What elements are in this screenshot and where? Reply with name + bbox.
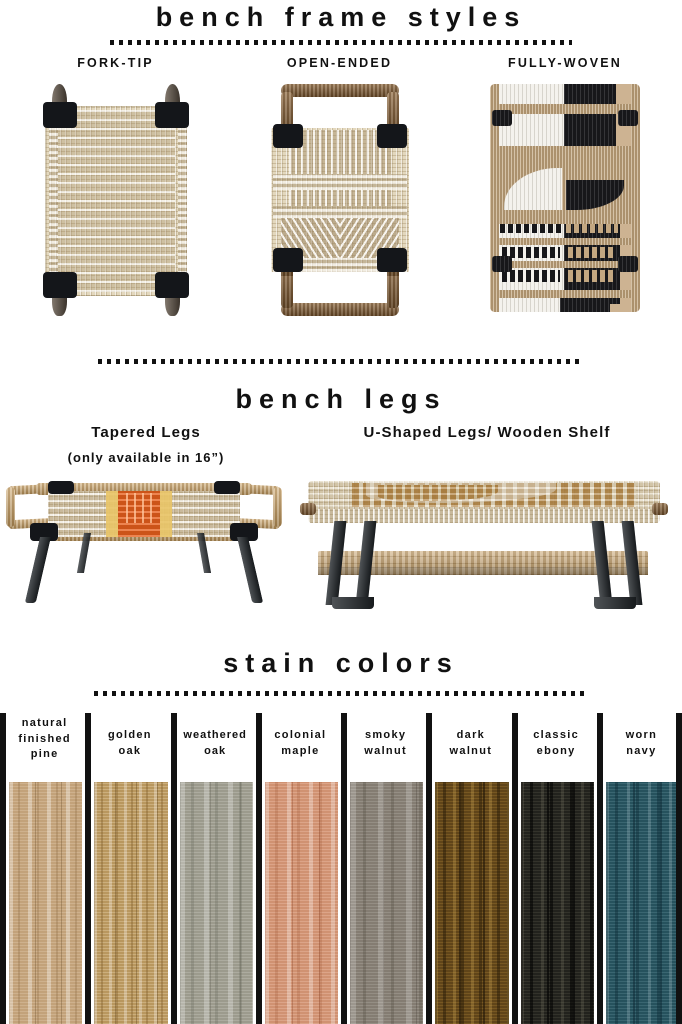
leg-style-label-u-shaped: U-Shaped Legs/ Wooden Shelf bbox=[292, 424, 682, 441]
frame-style-fork-tip[interactable]: FORK-TIP bbox=[8, 56, 223, 316]
stain-swatch-worn-navy[interactable]: worn navy bbox=[597, 706, 682, 1024]
stain-chip-natural-finished-pine bbox=[9, 782, 82, 1024]
product-options-infographic: bench frame styles FORK-TIP bbox=[0, 0, 682, 1024]
section-title-frame-styles: bench frame styles bbox=[0, 4, 682, 31]
stain-label-natural-finished-pine: natural finished pine bbox=[6, 716, 83, 763]
stain-label-dark-walnut: dark walnut bbox=[432, 728, 509, 759]
leg-style-u-shaped[interactable]: U-Shaped Legs/ Wooden Shelf bbox=[292, 424, 682, 617]
stain-label-classic-ebony: classic ebony bbox=[518, 728, 595, 759]
section-title-bench-legs: bench legs bbox=[0, 386, 682, 413]
u-shaped-bench-illustration bbox=[292, 467, 676, 617]
stain-swatch-weathered-oak[interactable]: weathered oak bbox=[171, 706, 256, 1024]
leg-style-tapered[interactable]: Tapered Legs (only available in 16”) bbox=[0, 424, 292, 605]
stain-swatch-colonial-maple[interactable]: colonial maple bbox=[256, 706, 341, 1024]
section-bench-legs: bench legs bbox=[0, 350, 682, 413]
stain-label-weathered-oak: weathered oak bbox=[177, 728, 254, 759]
swatch-separator bbox=[341, 713, 347, 1024]
stain-chip-classic-ebony bbox=[521, 782, 594, 1024]
frame-style-label-fully-woven: FULLY-WOVEN bbox=[456, 56, 674, 70]
stain-chip-weathered-oak bbox=[180, 782, 253, 1024]
tapered-bench-illustration bbox=[0, 475, 288, 605]
stain-swatch-smoky-walnut[interactable]: smoky walnut bbox=[341, 706, 426, 1024]
divider-stain-colors bbox=[94, 691, 588, 696]
section-bench-frame-styles: bench frame styles bbox=[0, 4, 682, 45]
swatch-separator bbox=[85, 713, 91, 1024]
stain-swatch-golden-oak[interactable]: golden oak bbox=[85, 706, 170, 1024]
stain-chip-golden-oak bbox=[94, 782, 167, 1024]
section-stain-colors: stain colors bbox=[0, 650, 682, 696]
swatch-separator bbox=[597, 713, 603, 1024]
swatch-separator bbox=[426, 713, 432, 1024]
open-ended-illustration bbox=[255, 84, 425, 316]
swatch-separator bbox=[0, 713, 6, 1024]
stain-swatch-classic-ebony[interactable]: classic ebony bbox=[512, 706, 597, 1024]
swatch-separator-end bbox=[676, 713, 682, 1024]
frame-styles-row: FORK-TIP OPEN-ENDED bbox=[0, 56, 682, 336]
frame-style-open-ended[interactable]: OPEN-ENDED bbox=[232, 56, 447, 316]
section-title-stain-colors: stain colors bbox=[0, 650, 682, 677]
divider-bench-legs bbox=[98, 359, 584, 364]
stain-chip-smoky-walnut bbox=[350, 782, 423, 1024]
swatch-separator bbox=[512, 713, 518, 1024]
divider-frame-styles bbox=[110, 40, 572, 45]
stain-swatch-dark-walnut[interactable]: dark walnut bbox=[426, 706, 511, 1024]
fully-woven-illustration bbox=[490, 84, 640, 316]
stain-swatch-row: natural finished pine golden oak weather… bbox=[0, 706, 682, 1024]
leg-style-label-tapered: Tapered Legs bbox=[0, 424, 292, 441]
stain-label-smoky-walnut: smoky walnut bbox=[347, 728, 424, 759]
stain-label-golden-oak: golden oak bbox=[91, 728, 168, 759]
leg-style-note-tapered: (only available in 16”) bbox=[0, 450, 292, 465]
stain-label-colonial-maple: colonial maple bbox=[262, 728, 339, 759]
frame-style-label-fork-tip: FORK-TIP bbox=[8, 56, 223, 70]
stain-swatch-natural-finished-pine[interactable]: natural finished pine bbox=[0, 706, 85, 1024]
swatch-separator bbox=[256, 713, 262, 1024]
stain-chip-worn-navy bbox=[606, 782, 679, 1024]
stain-label-worn-navy: worn navy bbox=[603, 728, 680, 759]
frame-style-fully-woven[interactable]: FULLY-WOVEN bbox=[456, 56, 674, 316]
swatch-separator bbox=[171, 713, 177, 1024]
fork-tip-illustration bbox=[27, 84, 205, 316]
stain-chip-dark-walnut bbox=[435, 782, 508, 1024]
stain-chip-colonial-maple bbox=[265, 782, 338, 1024]
frame-style-label-open-ended: OPEN-ENDED bbox=[232, 56, 447, 70]
